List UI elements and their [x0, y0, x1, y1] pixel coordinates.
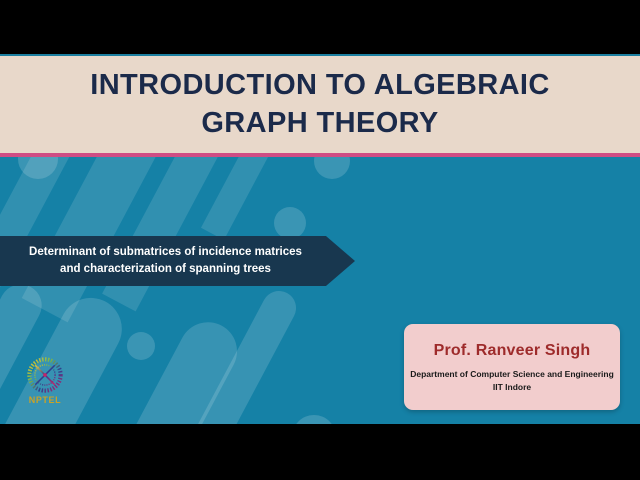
speaker-institute: IIT Indore [493, 382, 531, 392]
lecture-title-slide: INTRODUCTION TO ALGEBRAIC GRAPH THEORY D… [0, 0, 640, 480]
course-title-band: INTRODUCTION TO ALGEBRAIC GRAPH THEORY [0, 56, 640, 153]
course-title-line-1: INTRODUCTION TO ALGEBRAIC [90, 67, 550, 104]
nptel-logo: NPTEL [16, 352, 74, 414]
lecture-topic-banner: Determinant of submatrices of incidence … [0, 236, 355, 286]
lecture-topic-line-2: and characterization of spanning trees [29, 261, 302, 278]
speaker-department: Department of Computer Science and Engin… [410, 368, 614, 382]
nptel-wordmark: NPTEL [29, 395, 62, 405]
letterbox-top [0, 0, 640, 54]
course-title-line-2: GRAPH THEORY [201, 105, 438, 142]
speaker-card: Prof. Ranveer Singh Department of Comput… [404, 324, 620, 410]
lecture-topic-line-1: Determinant of submatrices of incidence … [29, 244, 302, 261]
nptel-starburst-icon [22, 352, 68, 398]
slide-content: INTRODUCTION TO ALGEBRAIC GRAPH THEORY D… [0, 54, 640, 424]
decorative-stripe [201, 157, 285, 240]
speaker-name: Prof. Ranveer Singh [434, 342, 591, 360]
decorative-circle [314, 157, 350, 179]
decorative-circle [292, 415, 336, 424]
decorative-circle [127, 332, 155, 360]
title-divider [0, 153, 640, 157]
letterbox-bottom [0, 424, 640, 480]
decorative-circle [274, 207, 306, 239]
